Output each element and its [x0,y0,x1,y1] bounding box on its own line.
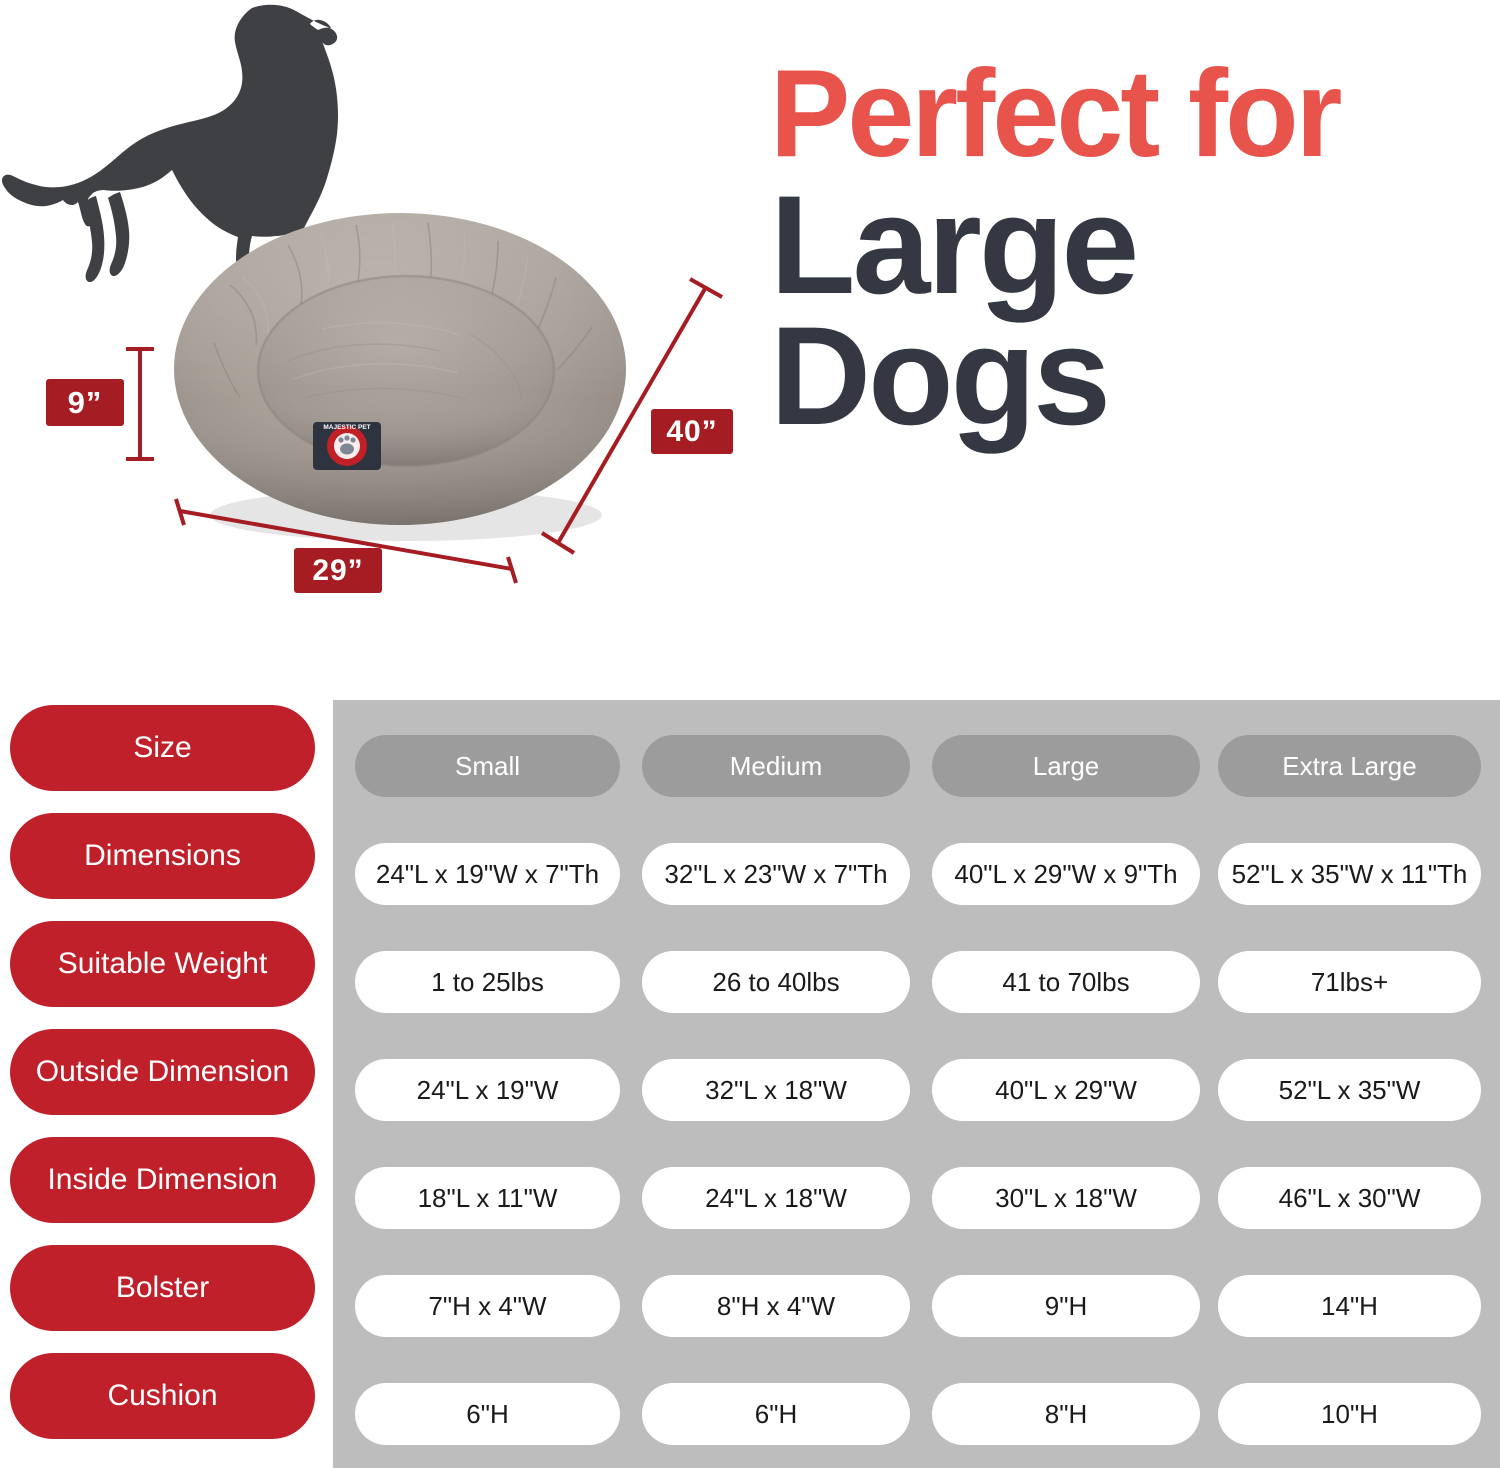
headline-line-3: Dogs [770,314,1490,437]
headline-line-1: Perfect for [770,60,1468,169]
column-header-extra-large: Extra Large [1218,735,1481,797]
headline: Perfect for Large Dogs [770,60,1490,437]
row-label-bolster: Bolster [10,1245,315,1331]
column-header-small: Small [355,735,620,797]
cell-outside-dimension-large: 40"L x 29"W [932,1059,1200,1121]
row-label-inside-dimension: Inside Dimension [10,1137,315,1223]
row-label-size: Size [10,705,315,791]
cell-dimensions-large: 40"L x 29"W x 9"Th [932,843,1200,905]
row-label-dimensions: Dimensions [10,813,315,899]
cell-suitable-weight-medium: 26 to 40lbs [642,951,910,1013]
cell-cushion-large: 8"H [932,1383,1200,1445]
cell-bolster-large: 9"H [932,1275,1200,1337]
cell-dimensions-medium: 32"L x 23"W x 7"Th [642,843,910,905]
column-header-large: Large [932,735,1200,797]
cell-cushion-medium: 6"H [642,1383,910,1445]
cell-dimensions-extra-large: 52"L x 35"W x 11"Th [1218,843,1481,905]
specification-table: Size Dimensions Suitable Weight Outside … [0,690,1500,1468]
dimension-label-length: 40” [651,409,733,454]
cell-outside-dimension-small: 24"L x 19"W [355,1059,620,1121]
cell-outside-dimension-medium: 32"L x 18"W [642,1059,910,1121]
dimension-label-height: 9” [46,379,124,426]
row-label-outside-dimension: Outside Dimension [10,1029,315,1115]
cell-suitable-weight-large: 41 to 70lbs [932,951,1200,1013]
svg-text:MAJESTIC PET: MAJESTIC PET [323,424,370,431]
cell-suitable-weight-small: 1 to 25lbs [355,951,620,1013]
cell-cushion-small: 6"H [355,1383,620,1445]
dimension-line-height [120,345,160,463]
cell-inside-dimension-medium: 24"L x 18"W [642,1167,910,1229]
cell-inside-dimension-large: 30"L x 18"W [932,1167,1200,1229]
cell-outside-dimension-extra-large: 52"L x 35"W [1218,1059,1481,1121]
headline-line-2: Large [770,183,1490,306]
column-header-medium: Medium [642,735,910,797]
table-row-label-column: Size Dimensions Suitable Weight Outside … [10,690,315,1468]
cell-dimensions-small: 24"L x 19"W x 7"Th [355,843,620,905]
cell-bolster-extra-large: 14"H [1218,1275,1481,1337]
cell-bolster-small: 7"H x 4"W [355,1275,620,1337]
row-label-suitable-weight: Suitable Weight [10,921,315,1007]
brand-tag: MAJESTIC PET [313,422,381,470]
row-label-cushion: Cushion [10,1353,315,1439]
product-infographic: MAJESTIC PET 9” 29” 40” Perfect for Larg… [0,0,1500,1468]
cell-inside-dimension-extra-large: 46"L x 30"W [1218,1167,1481,1229]
cell-bolster-medium: 8"H x 4"W [642,1275,910,1337]
cell-suitable-weight-extra-large: 71lbs+ [1218,951,1481,1013]
cell-cushion-extra-large: 10"H [1218,1383,1481,1445]
hero-section: MAJESTIC PET 9” 29” 40” Perfect for Larg… [0,0,1500,690]
dimension-label-width: 29” [294,548,382,593]
cell-inside-dimension-small: 18"L x 11"W [355,1167,620,1229]
